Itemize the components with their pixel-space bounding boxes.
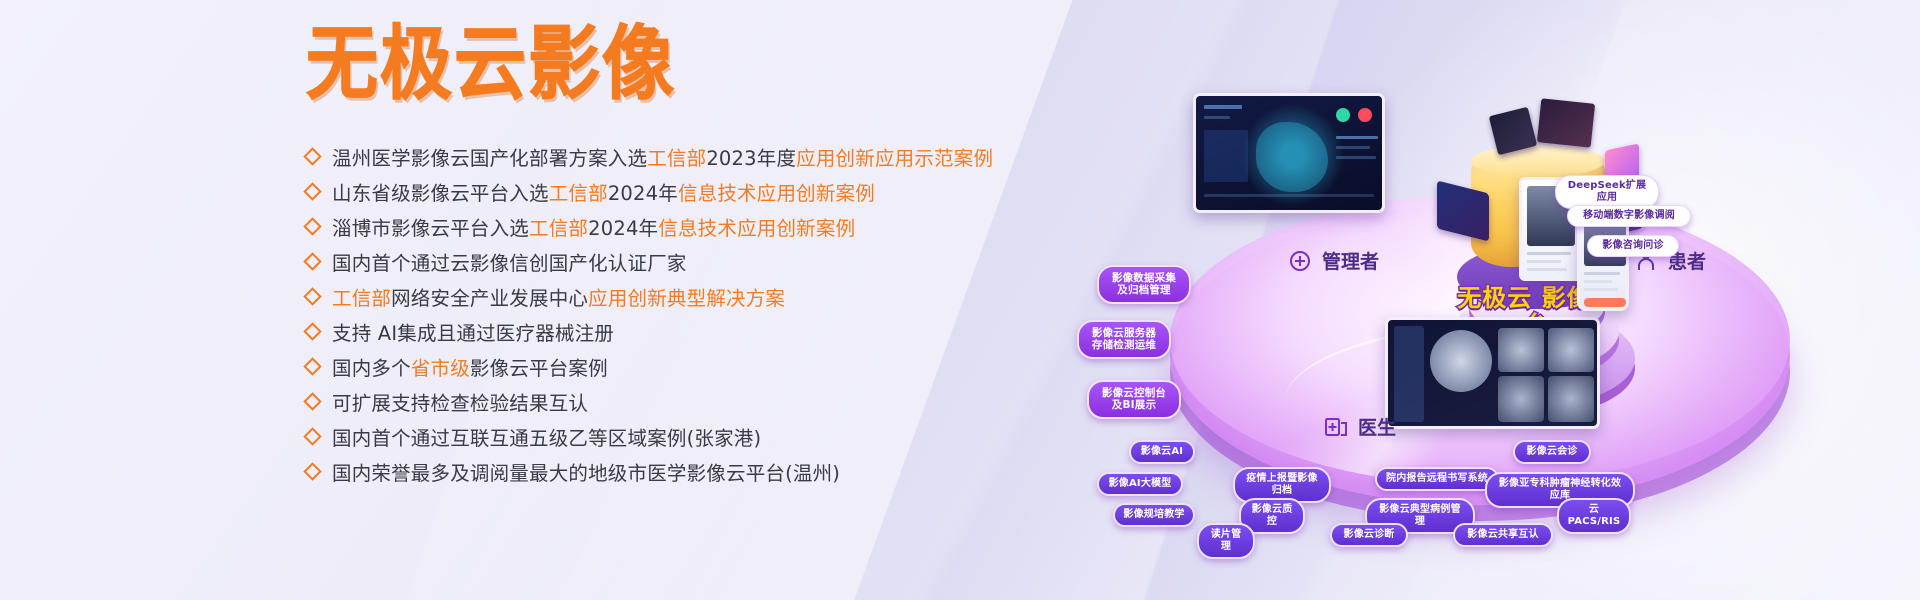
feature-bullet-text: 国内首个通过互联互通五级乙等区域案例(张家港): [332, 422, 761, 451]
capability-pill[interactable]: 院内报告远程书写系统: [1375, 467, 1499, 491]
plain-text: 支持 AI集成且通过医疗器械注册: [332, 322, 614, 345]
role-doctor: 医生: [1323, 413, 1396, 440]
capability-pill[interactable]: 影像云共享互认: [1453, 523, 1553, 547]
page-title: 无极云影像: [306, 22, 944, 107]
capability-pill[interactable]: 影像咨询问诊: [1587, 235, 1679, 257]
capability-pill[interactable]: 影像云会诊: [1513, 440, 1591, 464]
role-administrator: 管理者: [1287, 247, 1379, 274]
feature-bullet-item: 山东省级影像云平台入选工信部2024年信息技术应用创新案例: [304, 175, 944, 209]
diamond-bullet-icon: [303, 252, 321, 270]
plain-text: 2024年: [588, 217, 658, 240]
capability-pill[interactable]: 影像云控制台 及BI展示: [1087, 380, 1181, 419]
capability-pill[interactable]: DeepSeek扩展应用: [1555, 175, 1659, 209]
diamond-bullet-icon: [303, 182, 321, 200]
feature-bullet-text: 山东省级影像云平台入选工信部2024年信息技术应用创新案例: [332, 177, 875, 206]
capability-pill[interactable]: 云PACS/RIS: [1557, 498, 1631, 534]
feature-bullet-text: 支持 AI集成且通过医疗器械注册: [332, 317, 614, 346]
admin-dashboard-screen: [1193, 93, 1385, 213]
promo-banner: 无极云影像 温州医学影像云国产化部署方案入选工信部2023年度应用创新应用示范案…: [0, 0, 1920, 600]
capability-pill[interactable]: 影像云服务器 存储检测运维: [1077, 320, 1171, 359]
highlighted-text: 省市级: [411, 357, 470, 380]
plain-text: 国内荣誉最多及调阅量最大的地级市医学影像云平台(温州): [332, 462, 840, 485]
plain-text: 网络安全产业发展中心: [391, 287, 588, 310]
feature-bullet-list: 温州医学影像云国产化部署方案入选工信部2023年度应用创新应用示范案例山东省级影…: [304, 140, 944, 489]
highlighted-text: 应用创新典型解决方案: [588, 287, 785, 310]
diamond-bullet-icon: [303, 462, 321, 480]
diamond-bullet-icon: [303, 287, 321, 305]
feature-bullet-text: 国内多个省市级影像云平台案例: [332, 352, 608, 381]
left-content-column: 无极云影像 温州医学影像云国产化部署方案入选工信部2023年度应用创新应用示范案…: [304, 22, 944, 562]
diamond-bullet-icon: [303, 357, 321, 375]
feature-bullet-text: 温州医学影像云国产化部署方案入选工信部2023年度应用创新应用示范案例: [332, 142, 993, 171]
feature-bullet-text: 国内首个通过云影像信创国产化认证厂家: [332, 247, 687, 276]
capability-pill[interactable]: 读片管理: [1197, 523, 1255, 559]
feature-bullet-item: 温州医学影像云国产化部署方案入选工信部2023年度应用创新应用示范案例: [304, 140, 944, 174]
feature-bullet-item: 国内首个通过互联互通五级乙等区域案例(张家港): [304, 420, 944, 454]
feature-bullet-text: 淄博市影像云平台入选工信部2024年信息技术应用创新案例: [332, 212, 855, 241]
plain-text: 影像云平台案例: [470, 357, 608, 380]
plain-text: 国内首个通过云影像信创国产化认证厂家: [332, 252, 687, 275]
highlighted-text: 工信部: [529, 217, 588, 240]
hospital-plus-icon: [1287, 248, 1313, 274]
scan-thumbnail-b: [1537, 98, 1595, 147]
capability-pill[interactable]: 影像AI大模型: [1097, 472, 1183, 496]
feature-bullet-item: 可扩展支持检查检验结果互认: [304, 385, 944, 419]
feature-bullet-item: 国内首个通过云影像信创国产化认证厂家: [304, 245, 944, 279]
diamond-bullet-icon: [303, 322, 321, 340]
plain-text: 2024年: [608, 182, 678, 205]
feature-bullet-item: 淄博市影像云平台入选工信部2024年信息技术应用创新案例: [304, 210, 944, 244]
capability-pill[interactable]: 影像数据采集 及归档管理: [1097, 265, 1191, 304]
capability-pill[interactable]: 影像云AI: [1129, 440, 1195, 464]
highlighted-text: 工信部: [647, 147, 706, 170]
feature-bullet-item: 国内多个省市级影像云平台案例: [304, 350, 944, 384]
highlighted-text: 信息技术应用创新案例: [678, 182, 875, 205]
feature-bullet-text: 国内荣誉最多及调阅量最大的地级市医学影像云平台(温州): [332, 457, 840, 486]
role-label: 管理者: [1322, 247, 1379, 274]
capability-pill[interactable]: 影像规培教学: [1113, 503, 1195, 527]
plain-text: 山东省级影像云平台入选: [332, 182, 549, 205]
diamond-bullet-icon: [303, 217, 321, 235]
role-label: 医生: [1358, 413, 1396, 440]
feature-bullet-text: 可扩展支持检查检验结果互认: [332, 387, 588, 416]
diamond-bullet-icon: [303, 392, 321, 410]
doctor-card-icon: [1323, 414, 1349, 440]
tower-top: [1471, 145, 1605, 177]
plain-text: 国内多个: [332, 357, 411, 380]
plain-text: 温州医学影像云国产化部署方案入选: [332, 147, 647, 170]
platform-illustration: 无极云 影像平台: [1135, 95, 1895, 565]
feature-bullet-item: 工信部网络安全产业发展中心应用创新典型解决方案: [304, 280, 944, 314]
highlighted-text: 工信部: [549, 182, 608, 205]
capability-pill[interactable]: 影像云诊断: [1330, 523, 1408, 547]
highlighted-text: 应用创新应用示范案例: [796, 147, 993, 170]
plain-text: 淄博市影像云平台入选: [332, 217, 529, 240]
highlighted-text: 工信部: [332, 287, 391, 310]
highlighted-text: 信息技术应用创新案例: [658, 217, 855, 240]
feature-bullet-text: 工信部网络安全产业发展中心应用创新典型解决方案: [332, 282, 785, 311]
feature-bullet-item: 支持 AI集成且通过医疗器械注册: [304, 315, 944, 349]
plain-text: 国内首个通过互联互通五级乙等区域案例(张家港): [332, 427, 761, 450]
capability-pill[interactable]: 移动端数字影像调阅: [1567, 205, 1691, 227]
diamond-bullet-icon: [303, 147, 321, 165]
feature-bullet-item: 国内荣誉最多及调阅量最大的地级市医学影像云平台(温州): [304, 455, 944, 489]
plain-text: 可扩展支持检查检验结果互认: [332, 392, 588, 415]
diamond-bullet-icon: [303, 427, 321, 445]
plain-text: 2023年度: [706, 147, 796, 170]
doctor-viewer-screen: [1385, 317, 1600, 429]
